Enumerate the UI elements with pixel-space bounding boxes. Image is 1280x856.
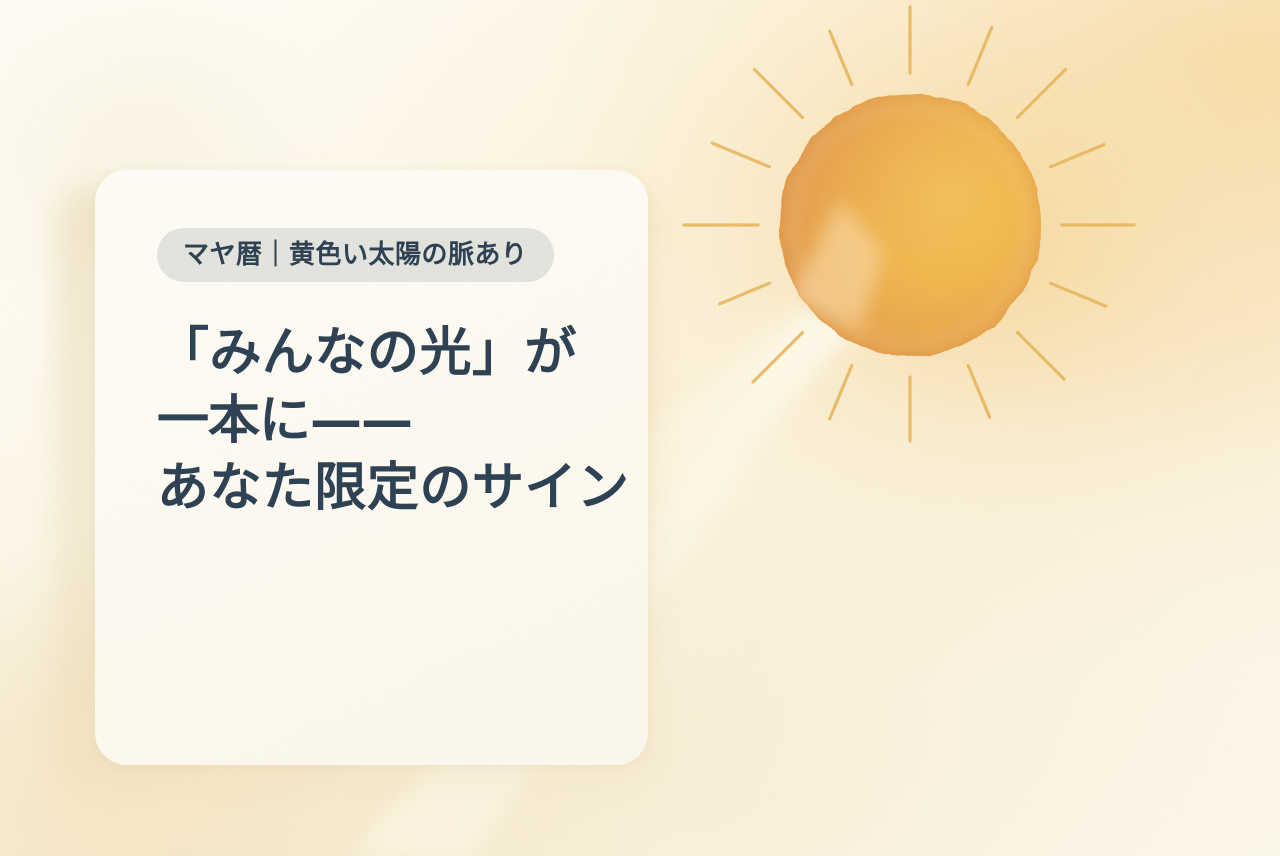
card-inner: マヤ暦｜黄色い太陽の脈あり 「みんなの光」が 一本に—— あなた限定のサイン [95,170,648,765]
page-title: 「みんなの光」が 一本に—— あなた限定のサイン [157,320,648,523]
headline-line-2: 一本に—— [157,388,648,456]
hero-canvas: マヤ暦｜黄色い太陽の脈あり 「みんなの光」が 一本に—— あなた限定のサイン [0,0,1280,856]
headline-line-1: 「みんなの光」が [157,320,648,388]
content-card: マヤ暦｜黄色い太陽の脈あり 「みんなの光」が 一本に—— あなた限定のサイン [95,170,648,765]
category-badge: マヤ暦｜黄色い太陽の脈あり [157,228,554,282]
category-badge-label: マヤ暦｜黄色い太陽の脈あり [183,242,528,268]
headline-line-3: あなた限定のサイン [157,455,648,523]
